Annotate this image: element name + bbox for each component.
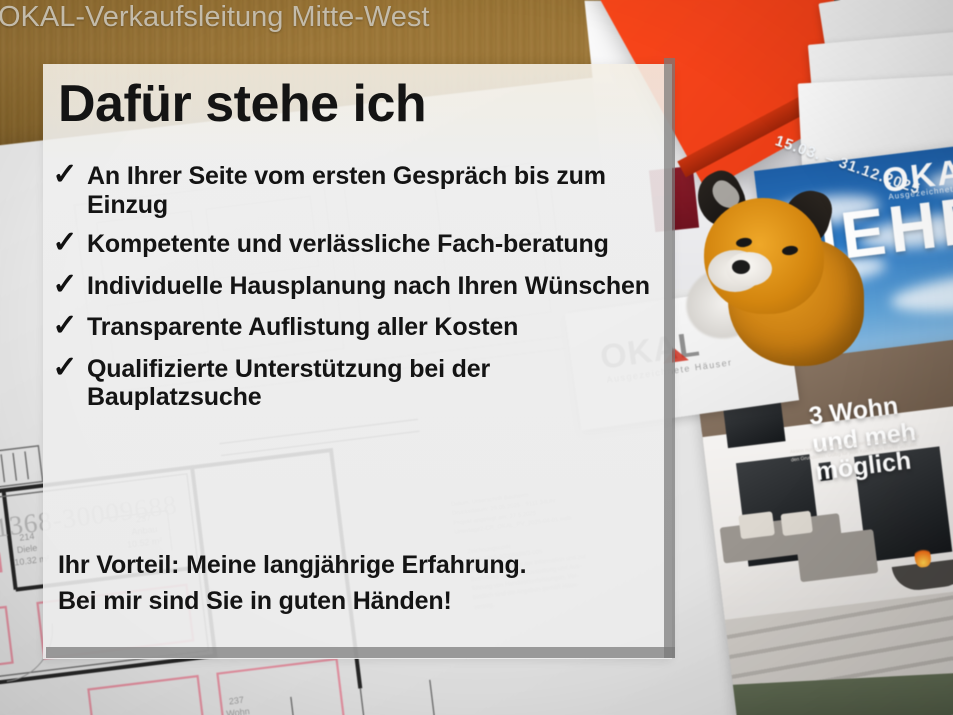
check-icon: ✓ (43, 311, 87, 342)
list-item: ✓ Kompetente und verlässliche Fach-berat… (43, 230, 672, 261)
panel-heading: Dafür stehe ich (58, 74, 426, 134)
list-item-label: Individuelle Hausplanung nach Ihren Wüns… (87, 272, 672, 301)
panel-footer: Ihr Vorteil: Meine langjährige Erfahrung… (58, 548, 658, 619)
list-item: ✓ Transparente Auflistung aller Kosten (43, 313, 672, 344)
list-item-label: Qualifizierte Unterstützung bei der Baup… (87, 355, 672, 412)
list-item-label: Transparente Auflistung aller Kosten (87, 313, 672, 342)
footer-line-1: Ihr Vorteil: Meine langjährige Erfahrung… (58, 548, 658, 584)
content-panel-inner: Dafür stehe ich ✓ An Ihrer Seite vom ers… (43, 64, 672, 659)
check-icon: ✓ (43, 228, 87, 259)
check-icon: ✓ (43, 160, 87, 191)
footer-line-2: Bei mir sind Sie in guten Händen! (58, 584, 658, 620)
list-item: ✓ Individuelle Hausplanung nach Ihren Wü… (43, 272, 672, 303)
list-item: ✓ An Ihrer Seite vom ersten Gespräch bis… (43, 162, 672, 219)
list-item-label: An Ihrer Seite vom ersten Gespräch bis z… (87, 162, 672, 219)
page-title: OKAL-Verkaufsleitung Mitte-West (0, 1, 429, 34)
check-icon: ✓ (43, 270, 87, 301)
check-icon: ✓ (43, 353, 87, 384)
list-item: ✓ Qualifizierte Unterstützung bei der Ba… (43, 355, 672, 412)
list-item-label: Kompetente und verlässliche Fach-beratun… (87, 230, 672, 259)
slide-root: 214 Diele 10.32 m² 237 Anbau 10.52 m² 25… (0, 0, 953, 715)
benefits-list: ✓ An Ihrer Seite vom ersten Gespräch bis… (43, 162, 672, 423)
